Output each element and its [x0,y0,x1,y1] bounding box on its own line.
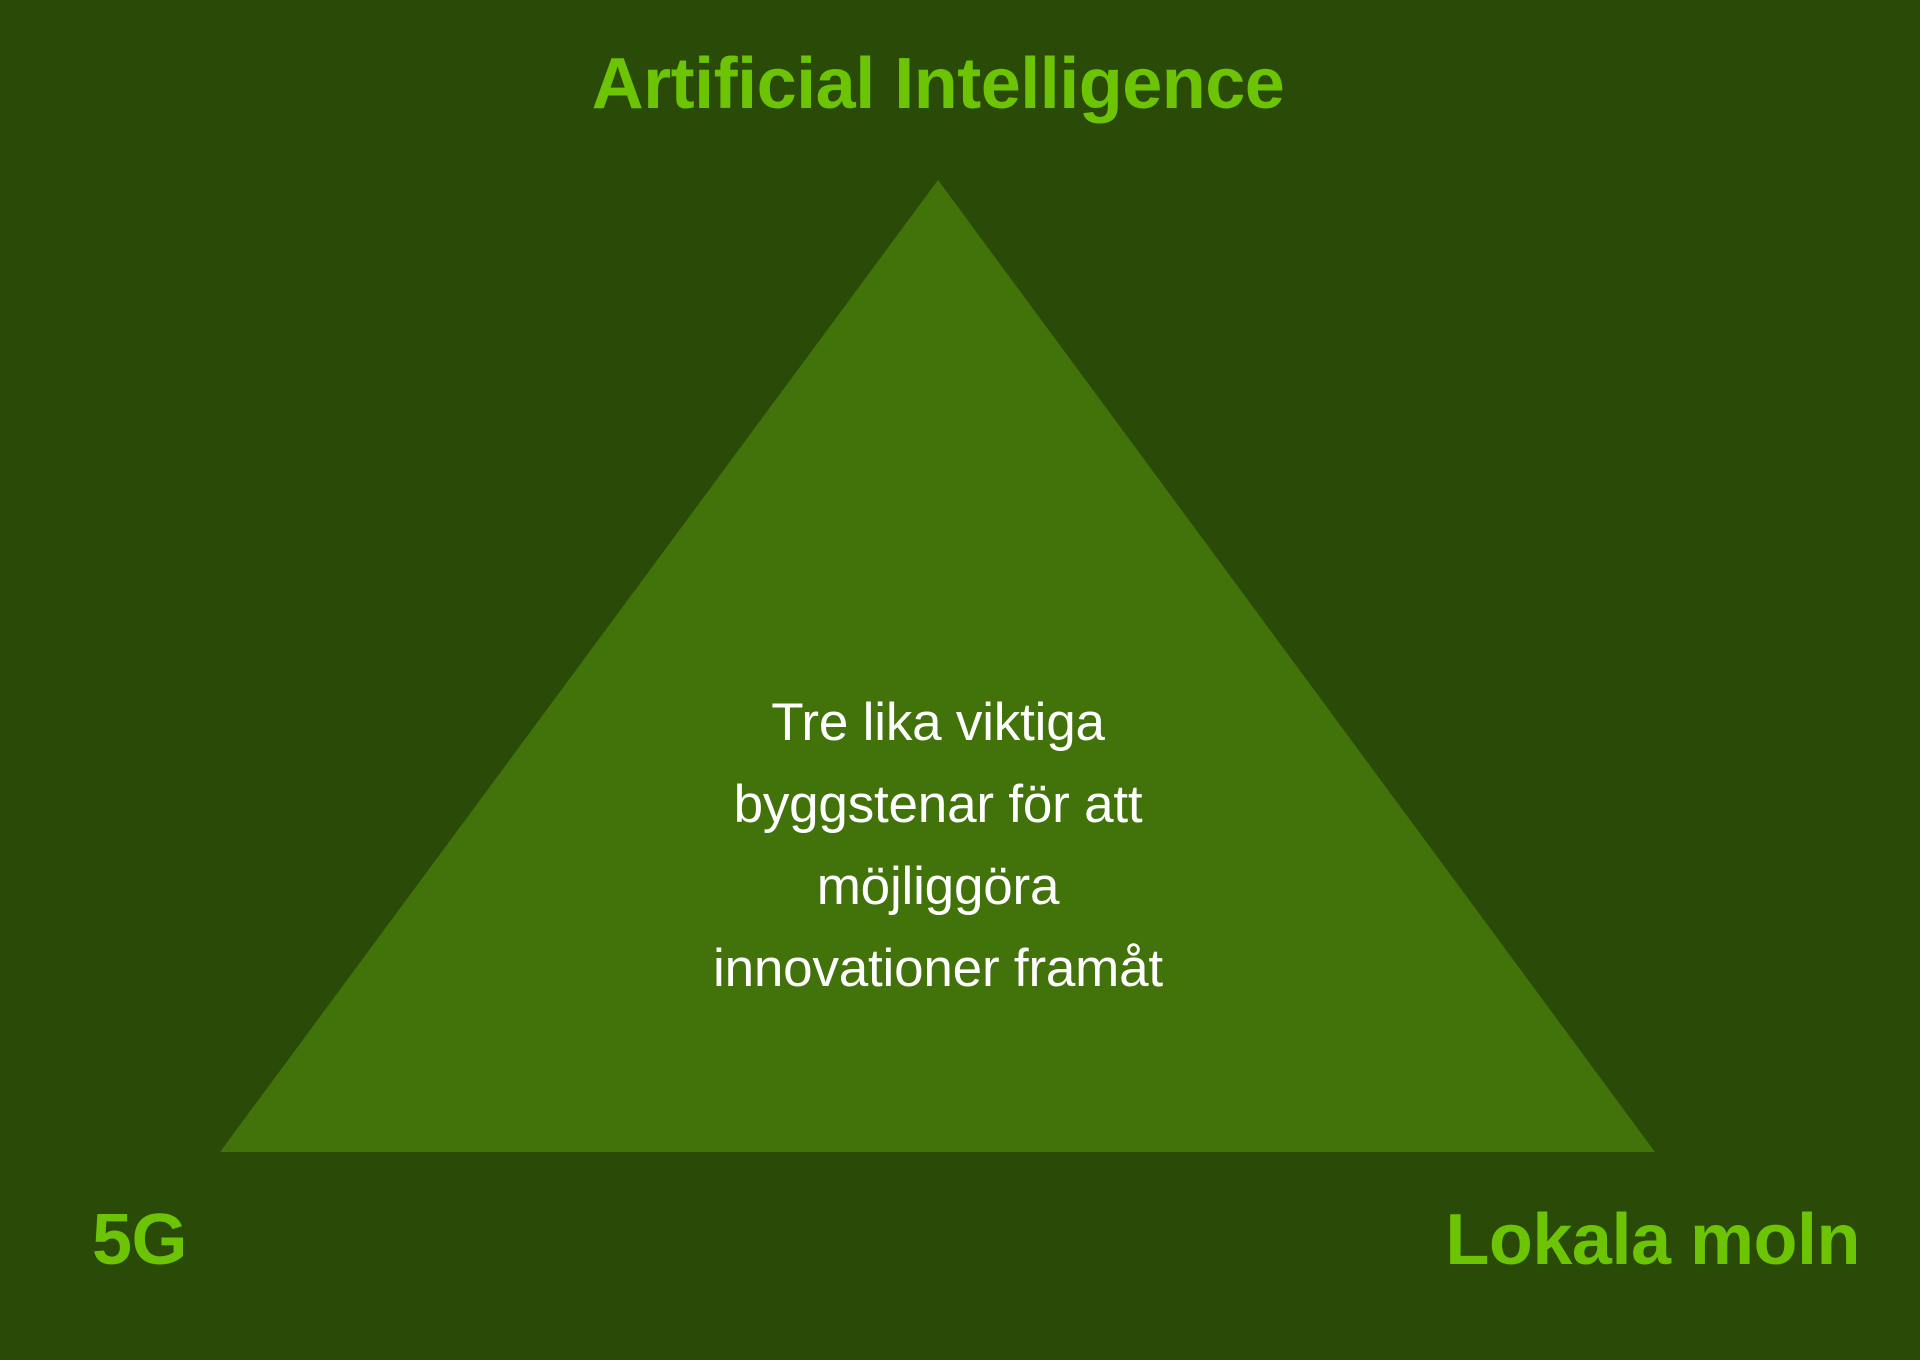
diagram-canvas: Artificial Intelligence Tre lika viktiga… [0,0,1920,1360]
center-description: Tre lika viktiga byggstenar för att möjl… [538,682,1338,1010]
corner-label-bottom-right-lokala-moln: Lokala moln [1445,1200,1860,1280]
center-description-line-4: innovationer framåt [538,928,1338,1010]
apex-label-text: Artificial Intelligence [592,46,1285,122]
center-description-line-3: möjliggöra [538,846,1338,928]
center-description-line-2: byggstenar för att [538,764,1338,846]
apex-label-artificial-intelligence: Artificial Intelligence [0,46,1920,122]
corner-label-bottom-left-5g: 5G [92,1200,187,1280]
center-description-line-1: Tre lika viktiga [538,682,1338,764]
triangle-shape [0,0,1920,1360]
